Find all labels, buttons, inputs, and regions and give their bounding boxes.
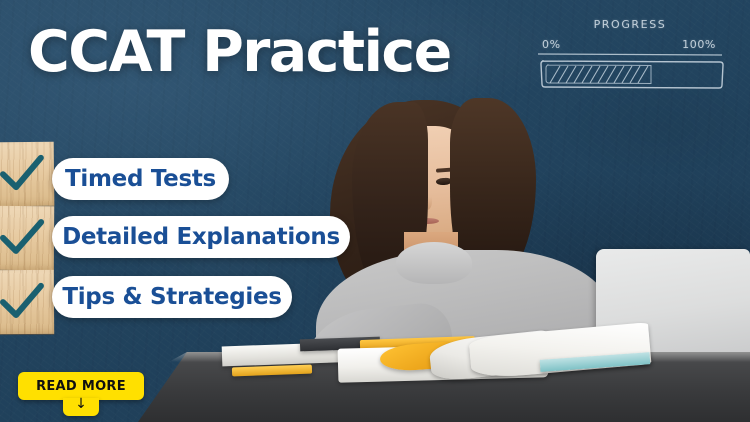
progress-illustration: PROGRESS 0% 100% (536, 18, 724, 94)
wooden-block (0, 142, 54, 207)
feature-badge-timed-tests: Timed Tests (52, 158, 229, 200)
feature-badge-detailed-explanations: Detailed Explanations (52, 216, 350, 258)
feature-label: Tips & Strategies (62, 284, 281, 310)
checkmark-icon (0, 280, 46, 324)
progress-min-label: 0% (542, 38, 561, 51)
wooden-block (0, 206, 54, 270)
wooden-check-blocks (0, 142, 56, 334)
arrow-down-icon: ↓ (75, 398, 87, 411)
progress-bar-sketch (536, 52, 724, 92)
checkmark-icon (0, 216, 46, 260)
page-title: CCAT Practice (28, 18, 451, 86)
wooden-block (0, 270, 54, 334)
read-more-label: READ MORE (36, 379, 126, 394)
feature-label: Timed Tests (65, 166, 216, 192)
read-more-arrow-tab[interactable]: ↓ (63, 398, 99, 416)
progress-max-label: 100% (682, 38, 716, 51)
feature-badge-tips-strategies: Tips & Strategies (52, 276, 292, 318)
checkmark-icon (0, 152, 46, 197)
feature-label: Detailed Explanations (62, 224, 340, 250)
ccat-practice-banner: CCAT Practice PROGRESS 0% 100% (0, 0, 750, 422)
progress-label: PROGRESS (536, 18, 724, 31)
